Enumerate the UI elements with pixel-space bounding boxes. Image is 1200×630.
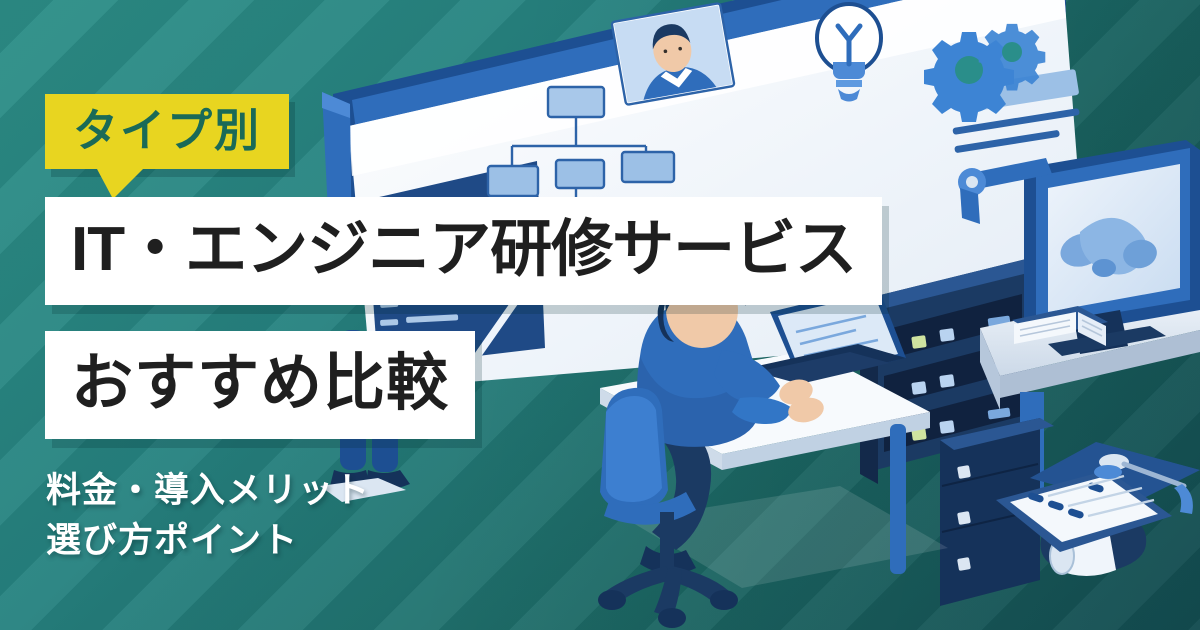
category-badge: タイプ別 — [45, 94, 289, 169]
banner-canvas: タイプ別 IT・エンジニア研修サービス おすすめ比較 料金・導入メリット 選び方… — [0, 0, 1200, 630]
subtitle-block: 料金・導入メリット 選び方ポイント — [46, 466, 370, 565]
page-title-line-2: おすすめ比較 — [45, 331, 475, 439]
subtitle-line-2: 選び方ポイント — [46, 516, 370, 566]
badge-pointer-tail — [97, 169, 143, 199]
subtitle-line-1: 料金・導入メリット — [46, 466, 370, 516]
text-content-layer: タイプ別 IT・エンジニア研修サービス おすすめ比較 料金・導入メリット 選び方… — [0, 0, 1200, 630]
page-title-line-1: IT・エンジニア研修サービス — [45, 197, 882, 305]
category-badge-label: タイプ別 — [45, 94, 289, 169]
